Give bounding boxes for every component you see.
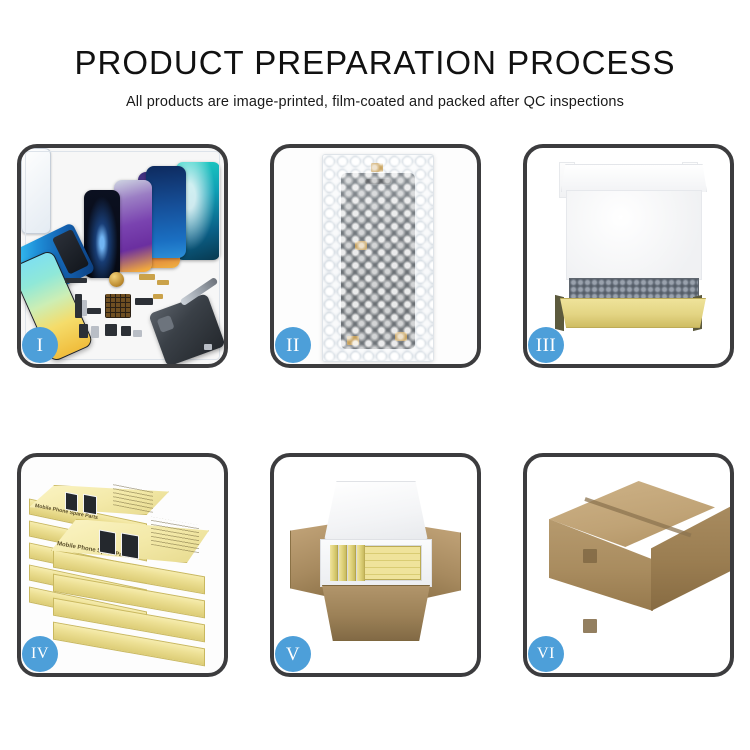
inner-yellow-box-2 xyxy=(339,545,347,581)
spare-part-gold-flex xyxy=(139,274,155,280)
spare-part-gold-tab xyxy=(157,280,169,285)
yellow-box-front-icon xyxy=(557,298,709,328)
foam-lid-icon xyxy=(561,164,707,192)
step-card-1: I xyxy=(17,144,228,368)
bubble-wrap-bag-icon xyxy=(322,154,434,362)
box-art-screen-front-1 xyxy=(99,530,116,556)
box-art-screen-back-2 xyxy=(83,494,97,516)
spare-part-cable-a xyxy=(75,294,82,318)
chip-array-icon xyxy=(105,294,131,318)
step-badge-2: II xyxy=(275,327,311,363)
inner-yellow-box-1 xyxy=(330,545,338,581)
spare-part-connector xyxy=(65,278,87,283)
spare-part-cable-c xyxy=(135,298,153,305)
step-badge-3: III xyxy=(528,327,564,363)
step-badge-5: V xyxy=(275,636,311,672)
vibration-motor-icon xyxy=(109,272,124,287)
step-badge-1: I xyxy=(22,327,58,363)
header: PRODUCT PREPARATION PROCESS All products… xyxy=(0,0,750,110)
inner-yellow-box-stack xyxy=(364,546,421,580)
process-step-grid: I II xyxy=(17,144,735,677)
box-art-screen-front-2 xyxy=(121,532,139,559)
foam-sheet-icon xyxy=(566,190,702,280)
tape-strip-bottom-left xyxy=(347,336,359,345)
screen-assembly-icon xyxy=(341,173,415,349)
step-card-2: II xyxy=(270,144,481,368)
tape-strip-middle xyxy=(355,241,367,250)
step-card-6: VI xyxy=(523,453,734,677)
spare-part-button xyxy=(79,324,88,338)
step-card-4: Mobile Phone Spare Parts Mobile Phone Sp… xyxy=(17,453,228,677)
inner-yellow-box-3 xyxy=(348,545,356,581)
tape-strip-bottom-right xyxy=(395,332,407,341)
spare-part-speaker xyxy=(105,324,117,336)
spare-part-camera xyxy=(121,326,131,336)
step-badge-4: IV xyxy=(22,636,58,672)
product-preparation-infographic: PRODUCT PREPARATION PROCESS All products… xyxy=(0,0,750,750)
page-title: PRODUCT PREPARATION PROCESS xyxy=(0,44,750,82)
step-card-5: V xyxy=(270,453,481,677)
spare-part-screw-set xyxy=(133,330,142,337)
screen-protector-icon xyxy=(21,148,51,234)
spare-part-sim-tray xyxy=(91,326,99,338)
carton-body-icon xyxy=(316,585,436,641)
step-badge-6: VI xyxy=(528,636,564,672)
carton-tape-upper xyxy=(583,549,597,563)
page-subtitle: All products are image-printed, film-coa… xyxy=(0,94,750,110)
tape-strip-top xyxy=(371,163,383,172)
step-card-3: III xyxy=(523,144,734,368)
spare-part-screws xyxy=(204,344,212,350)
box-art-screen-back-1 xyxy=(65,492,78,513)
spare-part-gold-pin xyxy=(153,294,163,299)
carton-tape-lower xyxy=(583,619,597,633)
carton-inner-contents xyxy=(330,545,422,581)
spare-part-cable-b xyxy=(87,308,101,314)
styrofoam-lid-icon xyxy=(324,481,428,541)
